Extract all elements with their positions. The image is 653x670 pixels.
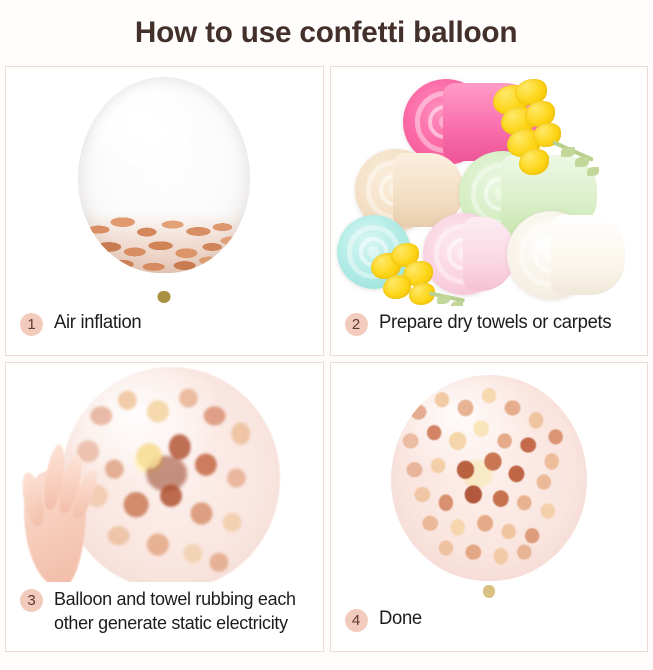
flower-leaf: [451, 301, 463, 306]
step-3-label: Balloon and towel rubbing each other gen…: [54, 587, 296, 635]
step-2-image: [331, 67, 648, 306]
step-3-label-line-1: Balloon and towel rubbing each: [54, 588, 296, 609]
step-badge-1: 1: [20, 313, 43, 336]
hand-shape: [20, 438, 112, 582]
flower-leaf: [437, 295, 450, 304]
flower-leaf: [587, 167, 599, 176]
step-badge-4: 4: [345, 609, 368, 632]
step-3-image: [6, 363, 323, 582]
step-panel-1[interactable]: 1 Air inflation: [5, 66, 324, 356]
infographic-page: How to use confetti balloon 1 Air inflat…: [0, 0, 653, 670]
step-panel-3[interactable]: 3 Balloon and towel rubbing each other g…: [5, 362, 324, 652]
page-title: How to use confetti balloon: [135, 16, 517, 50]
flower-leaf: [561, 147, 575, 157]
clear-balloon-shape: [78, 77, 250, 273]
step-3-caption: 3 Balloon and towel rubbing each other g…: [6, 582, 323, 651]
step-2-label: Prepare dry towels or carpets: [379, 311, 611, 334]
full-confetti-balloon-shape: [391, 375, 587, 581]
towel-body-white: [551, 215, 625, 295]
step-badge-3: 3: [20, 589, 43, 612]
step-3-label-line-2: other generate static electricity: [54, 612, 288, 633]
flower-leaf: [575, 157, 589, 167]
step-4-image: [331, 363, 648, 602]
towels-icon: [331, 67, 648, 306]
balloon-knot: [483, 585, 495, 598]
step-1-caption: 1 Air inflation: [6, 306, 323, 355]
confetti-pattern: [391, 375, 587, 581]
step-panel-4[interactable]: 4 Done: [330, 362, 649, 652]
flower-petal: [383, 275, 411, 299]
step-1-image: [6, 67, 323, 306]
balloon-knot: [158, 291, 171, 303]
steps-grid: 1 Air inflation: [5, 66, 648, 652]
flower-petal: [519, 149, 549, 175]
step-badge-2: 2: [345, 313, 368, 336]
hand-balloon-icon: [6, 363, 323, 582]
step-4-label: Done: [379, 607, 422, 630]
step-2-caption: 2 Prepare dry towels or carpets: [331, 306, 648, 355]
step-panel-2[interactable]: 2 Prepare dry towels or carpets: [330, 66, 649, 356]
step-1-label: Air inflation: [54, 311, 141, 334]
balloon-icon: [6, 67, 323, 306]
step-4-caption: 4 Done: [331, 602, 648, 651]
title-bar: How to use confetti balloon: [0, 0, 653, 66]
confetti-balloon-icon: [331, 363, 648, 602]
